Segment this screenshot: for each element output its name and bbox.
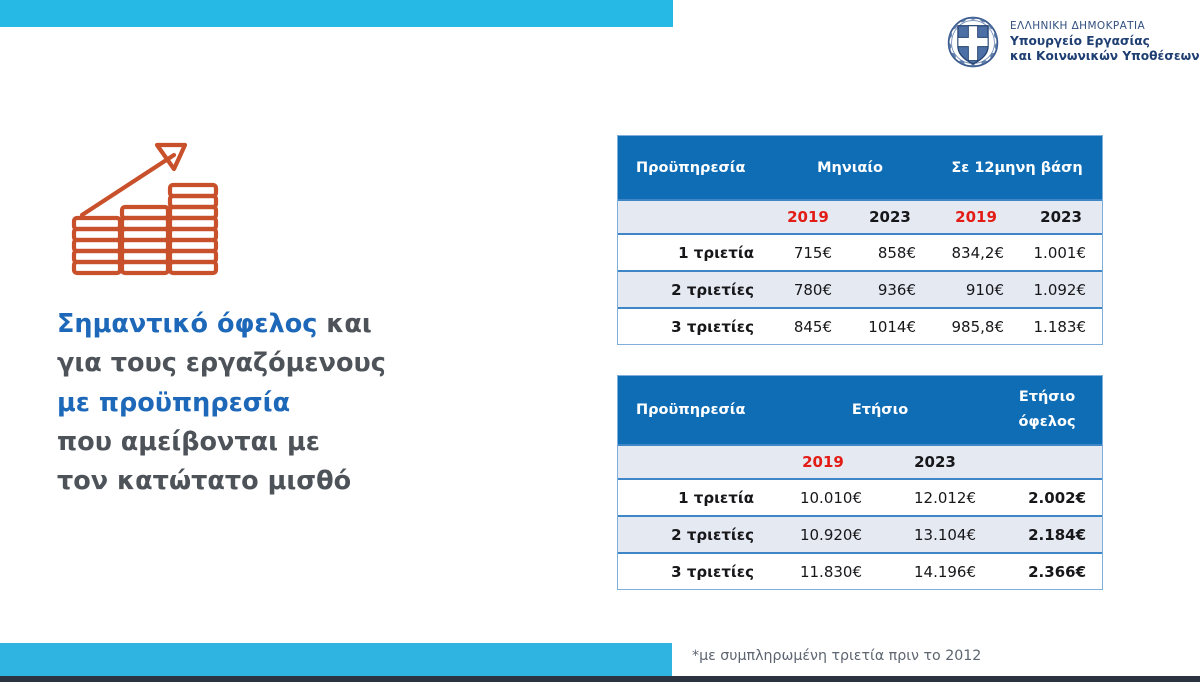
- page-title-line-5: τον κατώτατο μισθό: [57, 462, 487, 501]
- header-seniority: Προϋπηρεσία: [618, 136, 768, 200]
- row-value: 834,2€: [932, 234, 1020, 271]
- table-monthly-subheader-row: 2019 2023 2019 2023: [618, 200, 1102, 234]
- row-value: 12.012€: [878, 479, 992, 516]
- table-row: 2 τριετίες10.920€13.104€2.184€: [618, 516, 1102, 553]
- header-12month: Σε 12μηνη βάση: [932, 136, 1102, 200]
- page-title-run: τον κατώτατο μισθό: [57, 466, 351, 496]
- page-title-line-3: με προϋπηρεσία: [57, 384, 487, 423]
- subheader-12month-2023: 2023: [1020, 200, 1102, 234]
- row-value: 10.920€: [768, 516, 878, 553]
- bottom-accent-bar: [0, 643, 672, 676]
- table-row: 1 τριετία10.010€12.012€2.002€: [618, 479, 1102, 516]
- greek-coat-of-arms-icon: [944, 13, 1002, 71]
- page-title-run: με προϋπηρεσία: [57, 388, 290, 418]
- row-value: 780€: [768, 271, 848, 308]
- page-title-line-2: για τους εργαζόμενους: [57, 344, 487, 383]
- subheader-annual-blank: [618, 445, 768, 479]
- row-value: 845€: [768, 308, 848, 344]
- table-annual-comparison: Προϋπηρεσία Ετήσιο Ετήσιο όφελος 2019 20…: [618, 376, 1102, 589]
- subheader-monthly-2023: 2023: [848, 200, 932, 234]
- row-label: 1 τριετία: [618, 479, 768, 516]
- row-value: 715€: [768, 234, 848, 271]
- page-title-line-1: Σημαντικό όφελος και: [57, 305, 487, 344]
- page-title-run: Σημαντικό όφελος: [57, 309, 326, 339]
- logo-line-ministry-1: Υπουργείο Εργασίας: [1010, 34, 1200, 49]
- logo-line-ministry-2: και Κοινωνικών Υποθέσεων: [1010, 49, 1200, 64]
- row-value: 13.104€: [878, 516, 992, 553]
- row-label: 2 τριετίες: [618, 516, 768, 553]
- row-benefit-value: 2.184€: [992, 516, 1102, 553]
- subheader-monthly-2019: 2019: [768, 200, 848, 234]
- row-value: 10.010€: [768, 479, 878, 516]
- header-annual-benefit-line1: Ετήσιο: [992, 385, 1102, 410]
- row-label: 2 τριετίες: [618, 271, 768, 308]
- footnote-text: *με συμπληρωμένη τριετία πριν το 2012: [692, 648, 981, 664]
- page-title: Σημαντικό όφελος καιγια τους εργαζόμενου…: [57, 305, 487, 501]
- row-value: 1.183€: [1020, 308, 1102, 344]
- row-value: 14.196€: [878, 553, 992, 589]
- logo-line-republic: ΕΛΛΗΝΙΚΗ ΔΗΜΟΚΡΑΤΙΑ: [1010, 20, 1200, 32]
- table-row: 1 τριετία715€858€834,2€1.001€: [618, 234, 1102, 271]
- row-benefit-value: 2.002€: [992, 479, 1102, 516]
- table-row: 2 τριετίες780€936€910€1.092€: [618, 271, 1102, 308]
- row-value: 910€: [932, 271, 1020, 308]
- row-label: 3 τριετίες: [618, 308, 768, 344]
- row-value: 1014€: [848, 308, 932, 344]
- row-benefit-value: 2.366€: [992, 553, 1102, 589]
- table-row: 3 τριετίες11.830€14.196€2.366€: [618, 553, 1102, 589]
- row-value: 936€: [848, 271, 932, 308]
- row-label: 3 τριετίες: [618, 553, 768, 589]
- row-value: 1.092€: [1020, 271, 1102, 308]
- header-monthly: Μηνιαίο: [768, 136, 932, 200]
- subheader-annual-2019: 2019: [768, 445, 878, 479]
- row-value: 858€: [848, 234, 932, 271]
- table-annual-subheader-row: 2019 2023: [618, 445, 1102, 479]
- row-value: 11.830€: [768, 553, 878, 589]
- subheader-annual-2023: 2023: [878, 445, 992, 479]
- header-annual-benefit: Ετήσιο όφελος: [992, 376, 1102, 445]
- header-annual-benefit-line2: όφελος: [992, 410, 1102, 435]
- table-monthly-header-row: Προϋπηρεσία Μηνιαίο Σε 12μηνη βάση: [618, 136, 1102, 200]
- page-title-line-4: που αμείβονται με: [57, 423, 487, 462]
- top-accent-bar: [0, 0, 673, 27]
- header-seniority-annual: Προϋπηρεσία: [618, 376, 768, 445]
- ministry-logo: ΕΛΛΗΝΙΚΗ ΔΗΜΟΚΡΑΤΙΑ Υπουργείο Εργασίας κ…: [944, 13, 1200, 71]
- page-title-run: και: [326, 309, 372, 339]
- subheader-benefit-blank: [992, 445, 1102, 479]
- growing-coin-stacks-arrow-icon: [52, 133, 227, 293]
- row-value: 1.001€: [1020, 234, 1102, 271]
- page-title-run: που αμείβονται με: [57, 427, 320, 457]
- page-title-run: για τους εργαζόμενους: [57, 348, 386, 378]
- subheader-12month-2019: 2019: [932, 200, 1020, 234]
- header-annual: Ετήσιο: [768, 376, 992, 445]
- table-annual-header-row: Προϋπηρεσία Ετήσιο Ετήσιο όφελος: [618, 376, 1102, 445]
- table-row: 3 τριετίες845€1014€985,8€1.183€: [618, 308, 1102, 344]
- row-label: 1 τριετία: [618, 234, 768, 271]
- bottom-navy-strip: [0, 676, 1200, 682]
- row-value: 985,8€: [932, 308, 1020, 344]
- table-monthly-comparison: Προϋπηρεσία Μηνιαίο Σε 12μηνη βάση 2019 …: [618, 136, 1102, 344]
- subheader-blank: [618, 200, 768, 234]
